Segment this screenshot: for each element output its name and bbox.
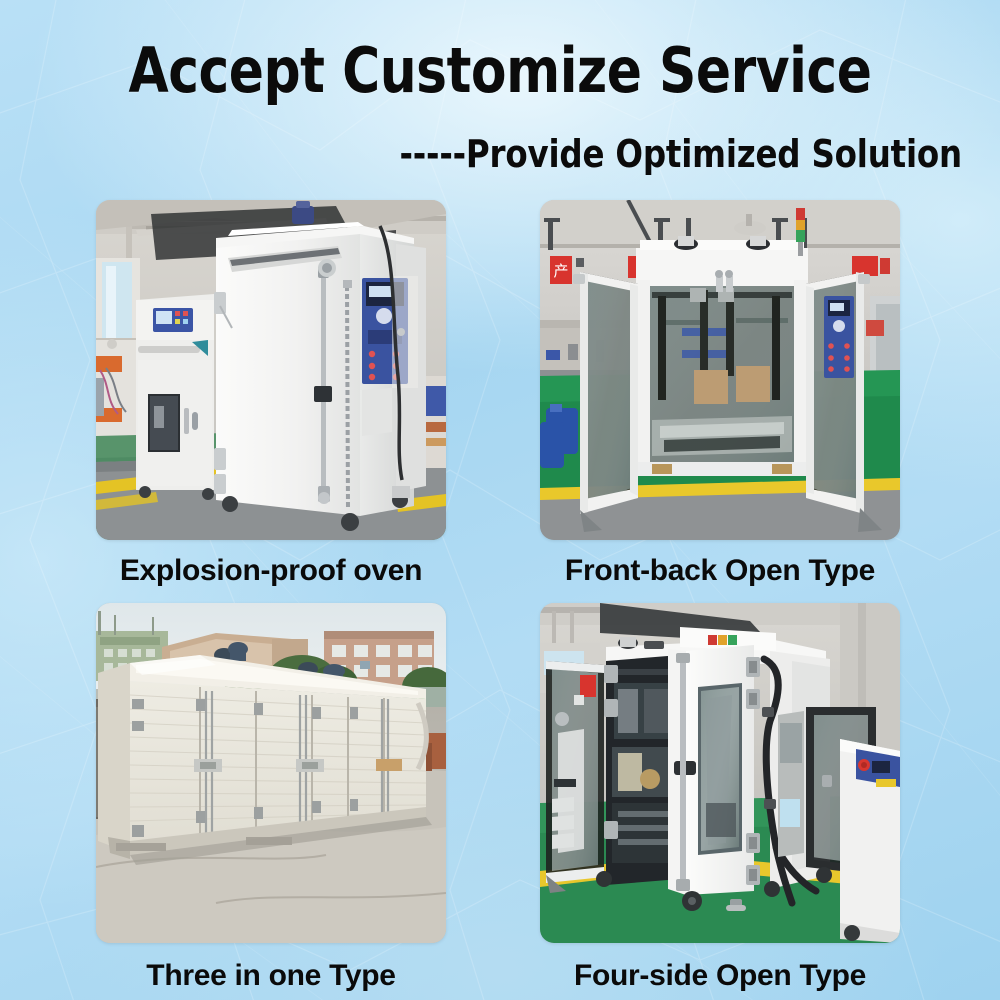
product-photo-front-back-open-type[interactable]: 产 (540, 200, 900, 540)
product-photo-four-side-open-type[interactable] (540, 603, 900, 943)
product-card-three-in-one-type[interactable]: Three in one Type (96, 603, 446, 993)
product-caption: Four-side Open Type (540, 959, 900, 993)
product-caption: Three in one Type (96, 959, 446, 993)
page-subtitle: -----Provide Optimized Solution (50, 134, 1000, 174)
product-card-explosion-proof-oven[interactable]: Explosion-proof oven (96, 200, 446, 588)
svg-text:产: 产 (553, 262, 568, 280)
product-card-four-side-open-type[interactable]: Four-side Open Type (540, 603, 900, 993)
product-photo-three-in-one-type[interactable] (96, 603, 446, 943)
product-card-front-back-open-type[interactable]: 产 (540, 200, 900, 588)
product-photo-explosion-proof-oven[interactable] (96, 200, 446, 540)
product-caption: Explosion-proof oven (96, 554, 446, 588)
page-title: Accept Customize Service (35, 40, 965, 102)
product-caption: Front-back Open Type (540, 554, 900, 588)
